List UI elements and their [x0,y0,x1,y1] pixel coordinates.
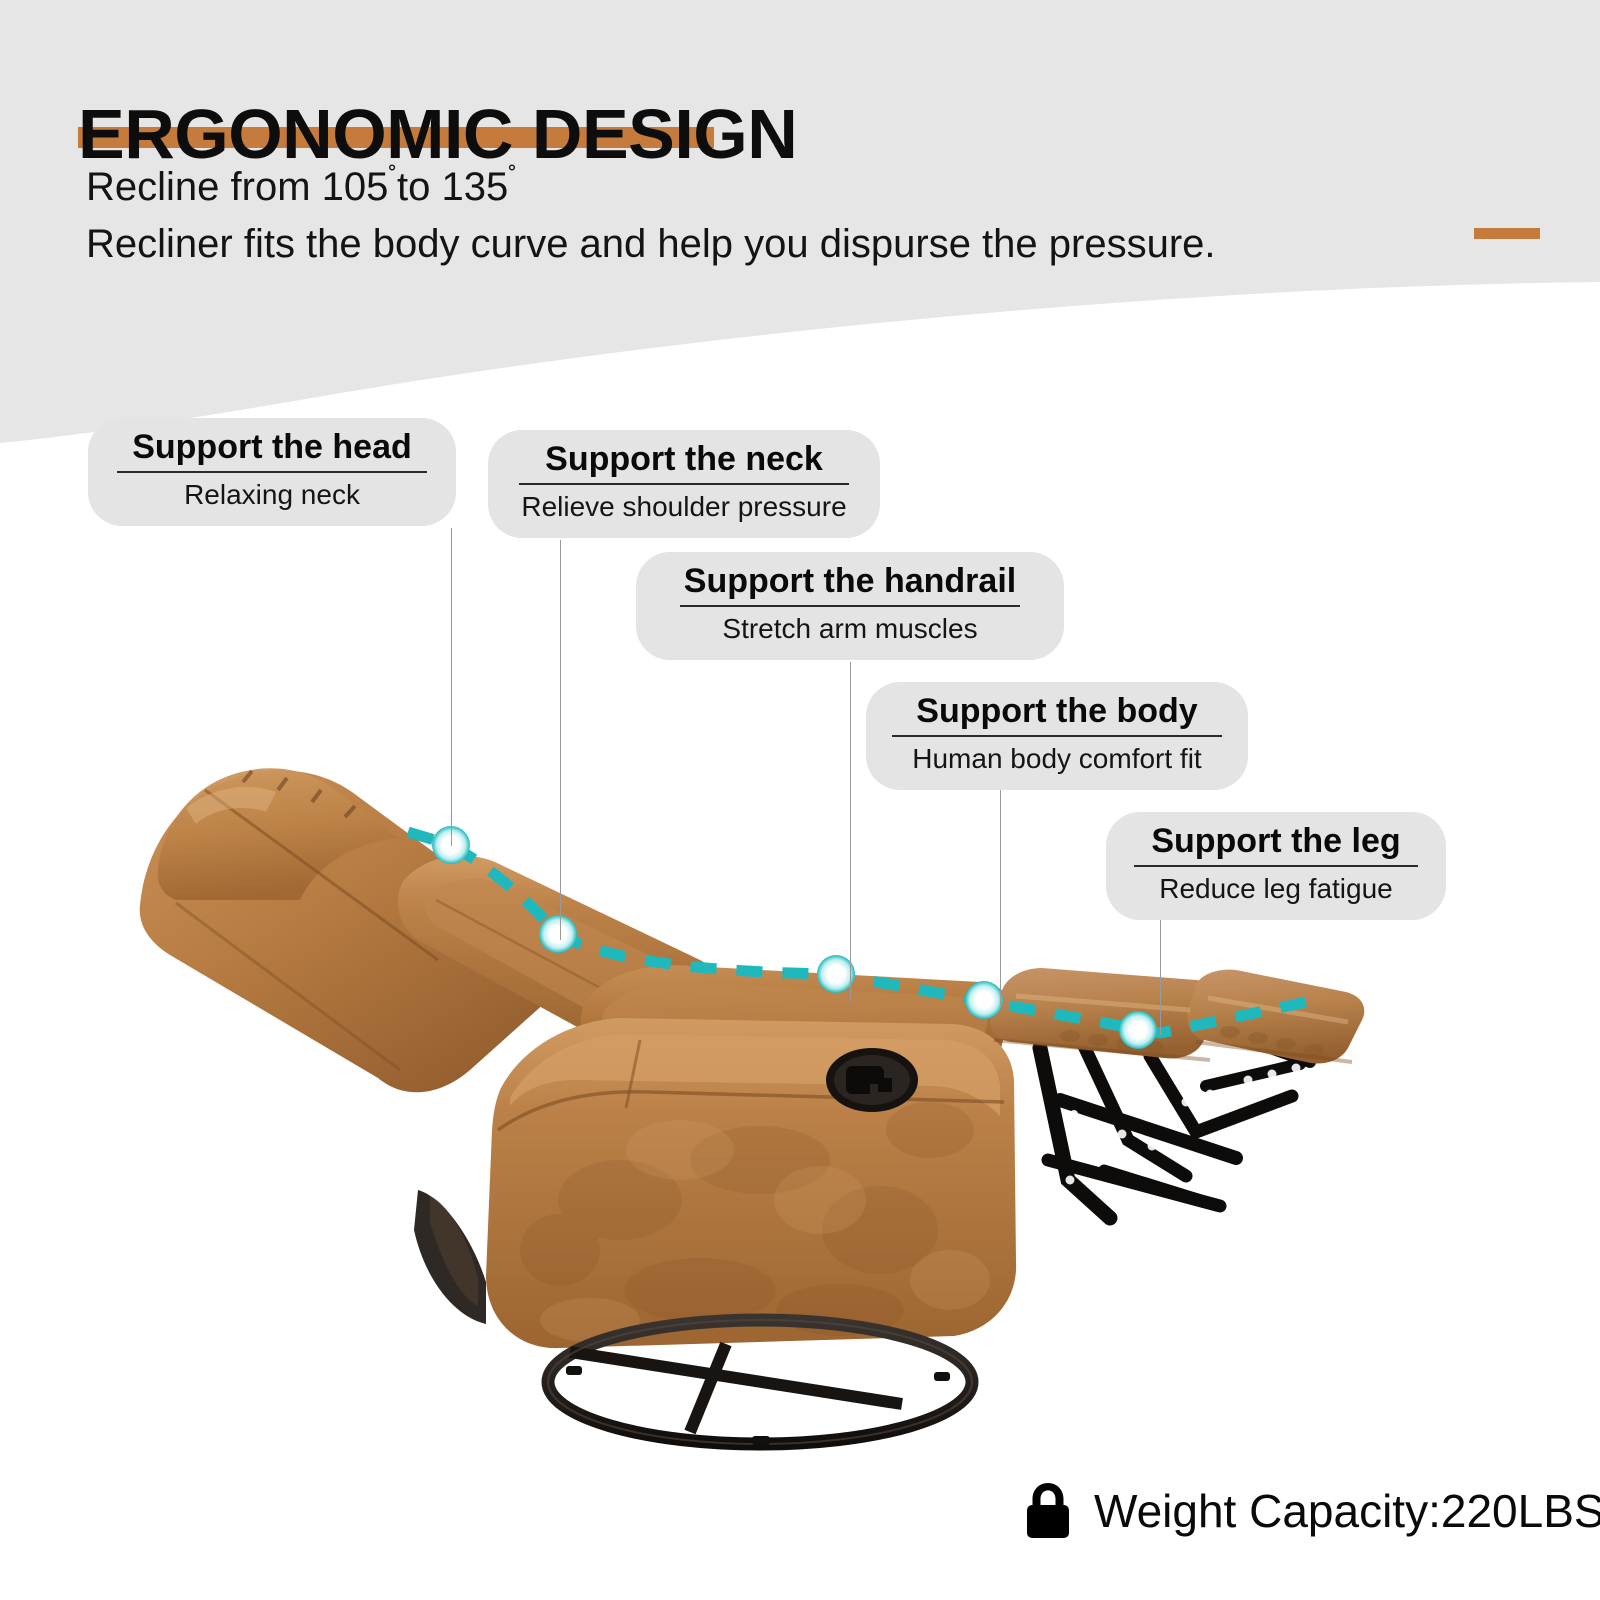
leader-line-body [1000,790,1001,1005]
weight-capacity-label: Weight Capacity:220LBS [1094,1484,1600,1538]
callout-handrail-sub: Stretch arm muscles [662,612,1038,646]
callout-neck-title: Support the neck [514,439,854,480]
leader-line-handrail [850,662,851,1002]
callout-head[interactable]: Support the head Relaxing neck [88,418,456,526]
callout-handrail-rule [680,605,1020,607]
footrest-mechanism [1040,1036,1310,1218]
recline-handle-icon [826,1048,918,1112]
leader-line-neck [560,540,561,940]
callout-neck-sub: Relieve shoulder pressure [514,490,854,524]
callout-handrail[interactable]: Support the handrail Stretch arm muscles [636,552,1064,660]
recliner-chair-illustration [0,0,1600,1600]
lock-icon [1022,1480,1074,1542]
callout-neck-rule [519,483,849,485]
callout-leg-title: Support the leg [1132,821,1420,862]
callout-head-rule [117,471,427,473]
callout-body[interactable]: Support the body Human body comfort fit [866,682,1248,790]
leader-line-leg [1160,920,1161,1035]
callout-head-sub: Relaxing neck [114,478,430,512]
callout-body-sub: Human body comfort fit [892,742,1222,776]
weight-capacity-footer: Weight Capacity:220LBS [1022,1480,1600,1542]
callout-body-title: Support the body [892,691,1222,732]
leader-line-head [451,528,452,846]
callout-leg-rule [1134,865,1418,867]
callout-leg-sub: Reduce leg fatigue [1132,872,1420,906]
callout-body-rule [892,735,1222,737]
callout-head-title: Support the head [114,427,430,468]
callout-neck[interactable]: Support the neck Relieve shoulder pressu… [488,430,880,538]
armrest [486,1018,1016,1348]
callout-leg[interactable]: Support the leg Reduce leg fatigue [1106,812,1446,920]
callout-handrail-title: Support the handrail [662,561,1038,602]
infographic-canvas: ERGONOMIC DESIGN Recline from 105˚to 135… [0,0,1600,1600]
